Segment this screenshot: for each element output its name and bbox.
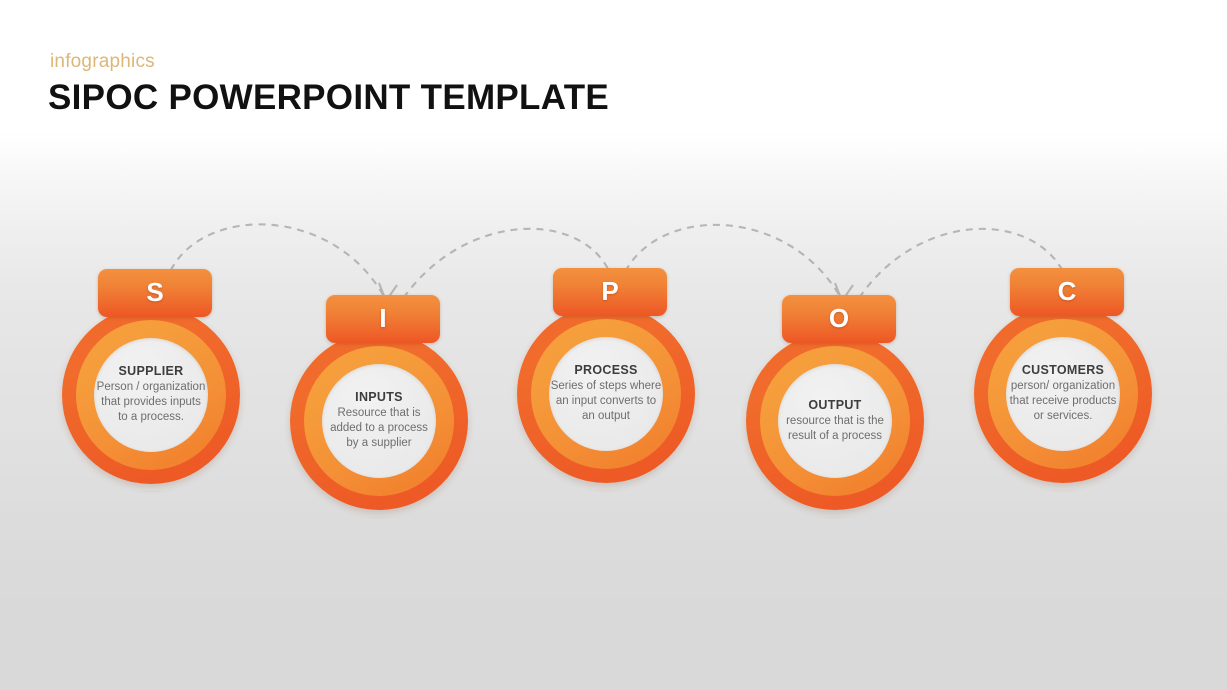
ring-text-process: PROCESS Series of steps where an input c… bbox=[549, 337, 663, 451]
ring-inputs: INPUTS Resource that is added to a proce… bbox=[290, 332, 468, 510]
ring-text-inputs: INPUTS Resource that is added to a proce… bbox=[322, 364, 436, 478]
badge-inputs[interactable]: I bbox=[326, 295, 440, 343]
badge-output[interactable]: O bbox=[782, 295, 896, 343]
ring-center-disc: PROCESS Series of steps where an input c… bbox=[549, 337, 663, 451]
badge-letter-output: O bbox=[782, 295, 896, 343]
ring-text-output: OUTPUT resource that is the result of a … bbox=[778, 364, 892, 478]
stage-output[interactable]: OUTPUT resource that is the result of a … bbox=[729, 295, 959, 690]
badge-process[interactable]: P bbox=[553, 268, 667, 316]
ring-body-process: Series of steps where an input converts … bbox=[549, 379, 663, 425]
slide-canvas: infographics SIPOC POWERPOINT TEMPLATE S… bbox=[0, 0, 1227, 690]
stage-supplier[interactable]: SUPPLIER Person / organization that prov… bbox=[45, 269, 275, 669]
ring-text-supplier: SUPPLIER Person / organization that prov… bbox=[94, 338, 208, 452]
ring-process: PROCESS Series of steps where an input c… bbox=[517, 305, 695, 483]
ring-center-disc: OUTPUT resource that is the result of a … bbox=[778, 364, 892, 478]
ring-supplier: SUPPLIER Person / organization that prov… bbox=[62, 306, 240, 484]
ring-text-customers: CUSTOMERS person/ organization that rece… bbox=[1006, 337, 1120, 451]
badge-customers[interactable]: C bbox=[1010, 268, 1124, 316]
ring-title-process: PROCESS bbox=[574, 363, 637, 379]
ring-center-disc: INPUTS Resource that is added to a proce… bbox=[322, 364, 436, 478]
stage-inputs[interactable]: INPUTS Resource that is added to a proce… bbox=[273, 295, 503, 690]
ring-inner-band: PROCESS Series of steps where an input c… bbox=[531, 319, 681, 469]
stage-customers[interactable]: CUSTOMERS person/ organization that rece… bbox=[957, 268, 1187, 668]
ring-body-inputs: Resource that is added to a process by a… bbox=[322, 406, 436, 452]
ring-body-customers: person/ organization that receive produc… bbox=[1006, 379, 1120, 425]
slide-header: infographics SIPOC POWERPOINT TEMPLATE bbox=[48, 52, 609, 115]
kicker-label: infographics bbox=[50, 52, 609, 71]
badge-letter-process: P bbox=[553, 268, 667, 316]
ring-inner-band: CUSTOMERS person/ organization that rece… bbox=[988, 319, 1138, 469]
ring-title-supplier: SUPPLIER bbox=[119, 364, 184, 380]
reflection-customers: CUSTOMERS person/ organization that rece… bbox=[974, 490, 1152, 640]
ring-inner-band: SUPPLIER Person / organization that prov… bbox=[76, 320, 226, 470]
ring-title-customers: CUSTOMERS bbox=[1022, 363, 1104, 379]
reflection-process: PROCESS Series of steps where an input c… bbox=[517, 490, 695, 640]
badge-letter-supplier: S bbox=[98, 269, 212, 317]
ring-center-disc: SUPPLIER Person / organization that prov… bbox=[94, 338, 208, 452]
ring-center-disc: CUSTOMERS person/ organization that rece… bbox=[1006, 337, 1120, 451]
ring-body-supplier: Person / organization that provides inpu… bbox=[94, 380, 208, 426]
ring-inner-band: OUTPUT resource that is the result of a … bbox=[760, 346, 910, 496]
badge-supplier[interactable]: S bbox=[98, 269, 212, 317]
ring-title-inputs: INPUTS bbox=[355, 390, 403, 406]
ring-customers: CUSTOMERS person/ organization that rece… bbox=[974, 305, 1152, 483]
ring-title-output: OUTPUT bbox=[808, 398, 861, 414]
ring-inner-band: INPUTS Resource that is added to a proce… bbox=[304, 346, 454, 496]
ring-output: OUTPUT resource that is the result of a … bbox=[746, 332, 924, 510]
badge-letter-customers: C bbox=[1010, 268, 1124, 316]
ring-body-output: resource that is the result of a process bbox=[778, 414, 892, 444]
reflection-supplier: SUPPLIER Person / organization that prov… bbox=[62, 491, 240, 641]
reflection-output: OUTPUT resource that is the result of a … bbox=[746, 517, 924, 667]
reflection-inputs: INPUTS Resource that is added to a proce… bbox=[290, 517, 468, 667]
stage-process[interactable]: PROCESS Series of steps where an input c… bbox=[500, 268, 730, 668]
page-title: SIPOC POWERPOINT TEMPLATE bbox=[48, 80, 609, 115]
badge-letter-inputs: I bbox=[326, 295, 440, 343]
